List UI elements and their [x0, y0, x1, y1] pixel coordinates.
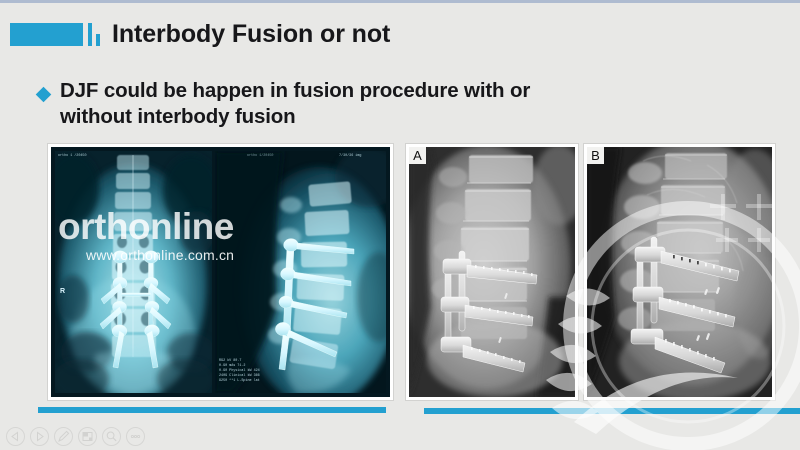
grid-icon: [79, 428, 96, 445]
svg-text:0.90 Physical kW 424: 0.90 Physical kW 424: [219, 368, 260, 373]
left-accent-underline: [38, 407, 386, 413]
watermark-brand: orthonline: [58, 206, 234, 248]
triangle-left-icon: [7, 428, 24, 445]
page-title: Interbody Fusion or not: [112, 14, 390, 54]
panel-label-a: A: [409, 147, 426, 164]
more-options-button[interactable]: [126, 427, 145, 446]
right-accent-underline: [424, 408, 800, 414]
radiograph-frame-b[interactable]: B: [584, 144, 775, 400]
top-divider: [0, 0, 800, 3]
pen-icon: [55, 428, 72, 445]
bullet-text: DJF could be happen in fusion procedure …: [60, 78, 560, 130]
r-side-marker-label: R: [60, 288, 65, 295]
svg-text:0.90 mAs 71.2: 0.90 mAs 71.2: [219, 364, 245, 368]
triangle-right-icon: [31, 428, 48, 445]
svg-text:9250 **1 L-Spine lat: 9250 **1 L-Spine lat: [219, 378, 260, 383]
lateral-lumbar-radiograph-b: [587, 147, 772, 397]
title-bar: Interbody Fusion or not: [0, 14, 800, 54]
watermark-url: www.orthonline.com.cn: [86, 247, 234, 263]
lateral-lumbar-radiograph-a: [409, 147, 575, 397]
svg-text:2409 Clinical kW 366: 2409 Clinical kW 366: [219, 373, 260, 378]
svg-text:7/30/36 img: 7/30/36 img: [339, 153, 361, 158]
slide-grid-button[interactable]: [78, 427, 97, 446]
presentation-slide: Interbody Fusion or not DJF could be hap…: [0, 0, 800, 450]
magnifier-icon: [103, 428, 120, 445]
next-slide-button[interactable]: [30, 427, 49, 446]
svg-text:ortho 1/20450: ortho 1/20450: [247, 153, 273, 158]
panel-label-b: B: [587, 147, 604, 164]
zoom-button[interactable]: [102, 427, 121, 446]
radiograph-frame-a[interactable]: A: [406, 144, 578, 400]
svg-text:RG2 kV 80.7: RG2 kV 80.7: [219, 358, 241, 363]
title-accent-bar-tall-icon: [88, 23, 92, 46]
slide-toolbar: [6, 427, 145, 446]
lumbar-spine-radiograph-pair: R: [51, 147, 390, 397]
title-accent-block-icon: [10, 23, 83, 46]
title-accent-bar-short-icon: [96, 34, 100, 46]
pen-annotate-button[interactable]: [54, 427, 73, 446]
ellipsis-icon: [127, 428, 144, 445]
diamond-bullet-icon: [36, 87, 52, 103]
svg-text:ortho 1 /20450: ortho 1 /20450: [58, 153, 87, 158]
left-radiograph-frame[interactable]: R: [48, 144, 393, 400]
previous-slide-button[interactable]: [6, 427, 25, 446]
